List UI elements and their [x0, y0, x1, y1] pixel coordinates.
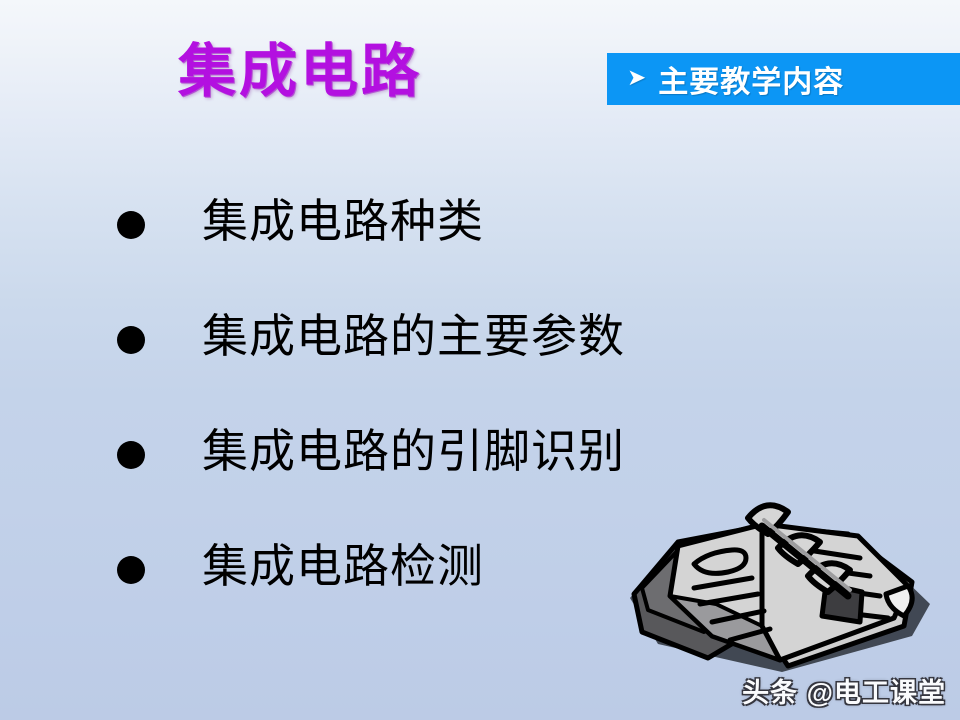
section-banner: ➤ 主要教学内容 [607, 53, 960, 105]
bullet-dot-icon [117, 556, 145, 584]
bullet-dot-icon [117, 211, 145, 239]
list-item-label: 集成电路的主要参数 [202, 314, 625, 360]
presentation-slide: 集成电路 ➤ 主要教学内容 集成电路种类 集成电路的主要参数 集成电路的引脚识别… [0, 0, 960, 720]
bullet-dot-icon [117, 326, 145, 354]
open-book-icon [612, 476, 942, 676]
arrow-right-triangle-icon: ➤ [627, 67, 646, 90]
section-banner-label: 主要教学内容 [658, 57, 844, 101]
page-title: 集成电路 [178, 42, 422, 103]
list-item: 集成电路种类 [0, 186, 960, 301]
list-item-label: 集成电路种类 [202, 199, 484, 245]
bullet-dot-icon [117, 441, 145, 469]
list-item-label: 集成电路检测 [202, 544, 484, 590]
watermark-text: 头条 @电工课堂 [742, 671, 946, 710]
list-item: 集成电路的主要参数 [0, 301, 960, 416]
list-item-label: 集成电路的引脚识别 [202, 429, 625, 475]
